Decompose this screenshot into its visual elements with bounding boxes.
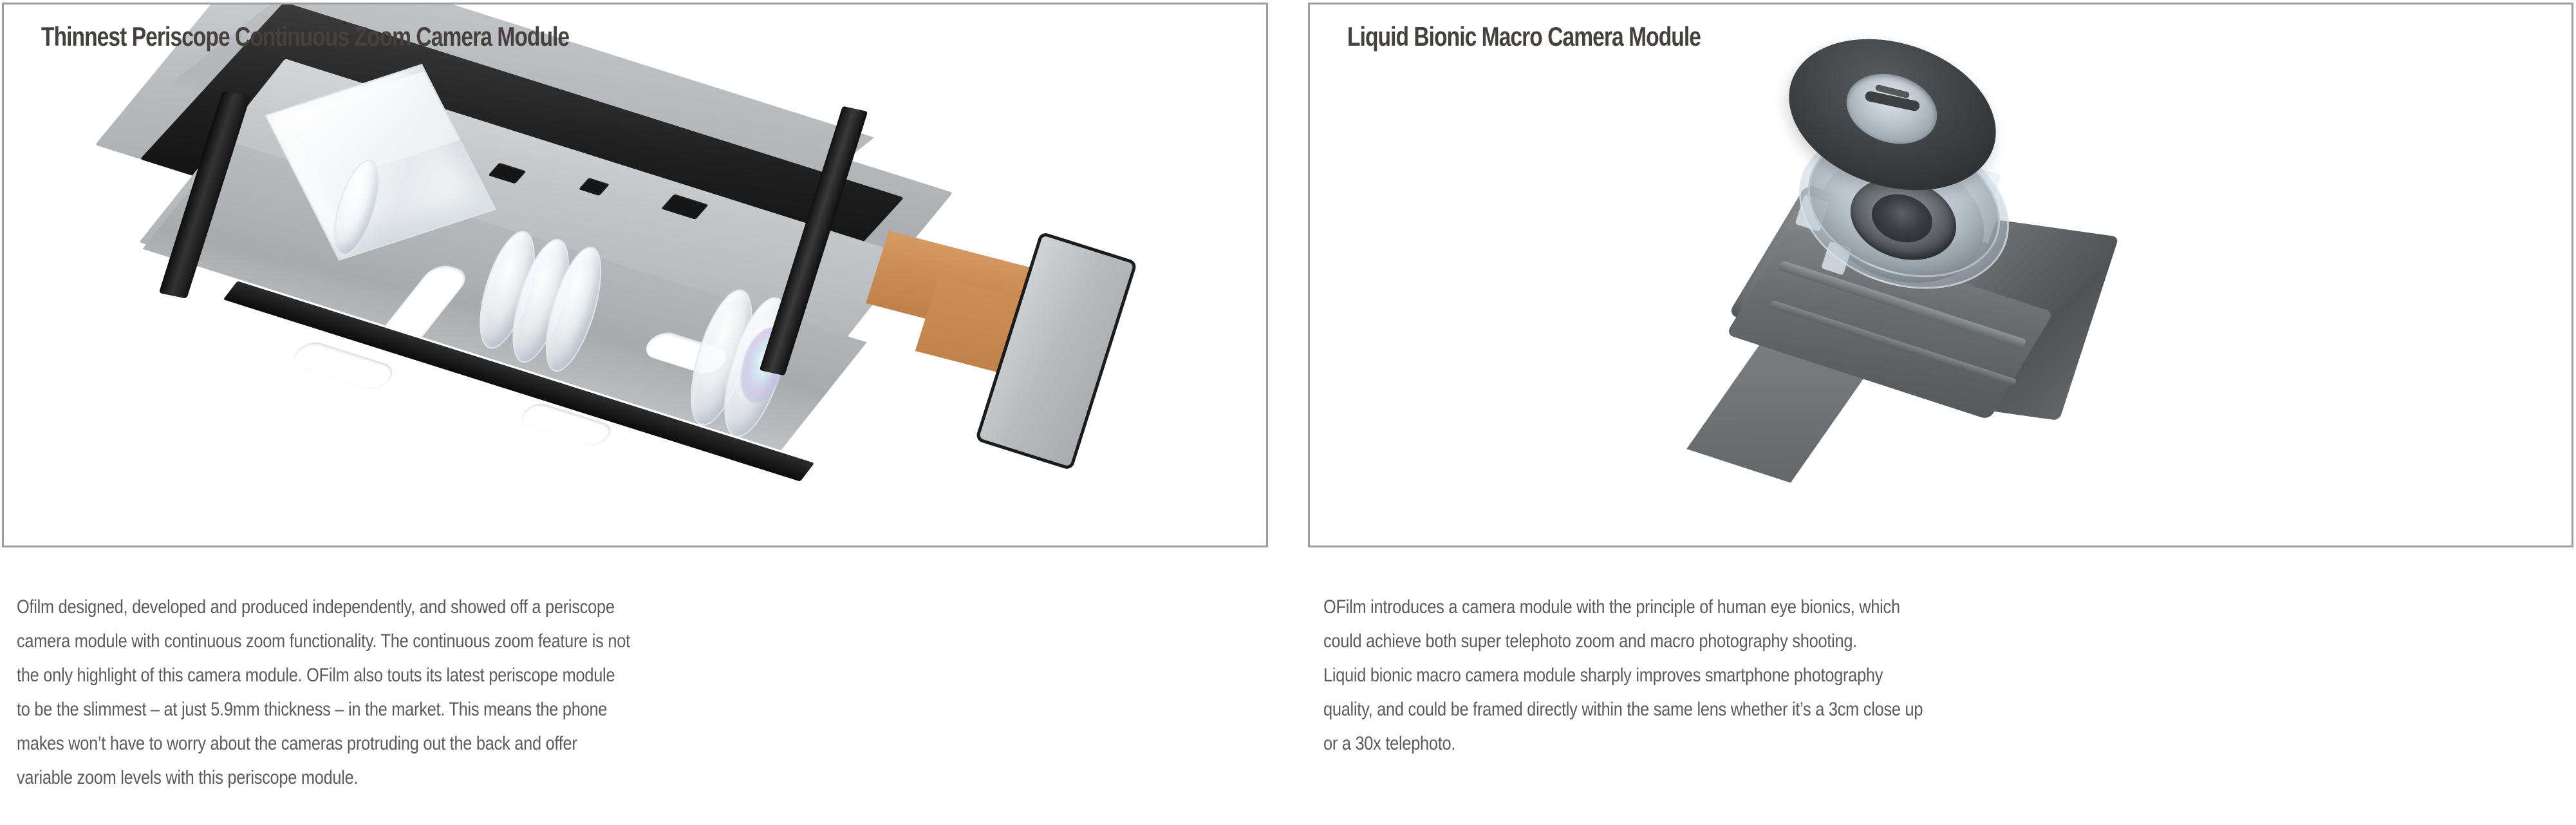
slide-page: Thinnest Periscope Continuous Zoom Camer… <box>0 0 2576 825</box>
liquid-bionic-module-render <box>1310 5 2571 545</box>
panel-periscope: Thinnest Periscope Continuous Zoom Camer… <box>2 3 1268 547</box>
panel-liquid-bionic: Liquid Bionic Macro Camera Module <box>1308 3 2573 547</box>
periscope-module-render <box>4 5 1266 545</box>
caption-liquid-bionic: OFilm introduces a camera module with th… <box>1323 590 1932 761</box>
page-title: Thinnest Periscope Continuous Zoom Camer… <box>41 21 569 52</box>
page-title: Liquid Bionic Macro Camera Module <box>1347 21 1701 52</box>
caption-periscope: Ofilm designed, developed and produced i… <box>17 590 631 795</box>
